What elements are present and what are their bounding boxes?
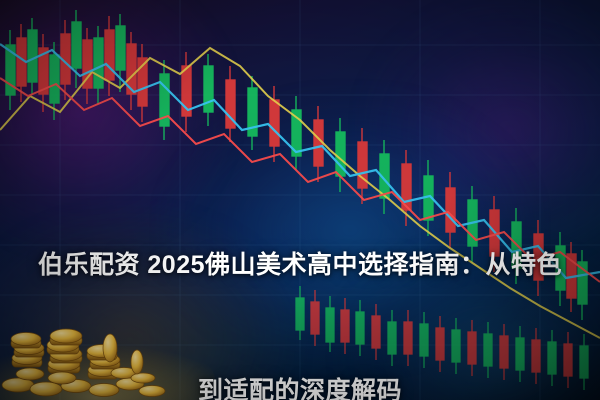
- headline-text: 伯乐配资 2025佛山美术高中选择指南：从特色 到适配的深度解码: [0, 160, 600, 400]
- image-canvas: 伯乐配资 2025佛山美术高中选择指南：从特色 到适配的深度解码: [0, 0, 600, 400]
- headline-line-1: 伯乐配资 2025佛山美术高中选择指南：从特色: [18, 244, 582, 286]
- headline-line-2: 到适配的深度解码: [18, 370, 582, 400]
